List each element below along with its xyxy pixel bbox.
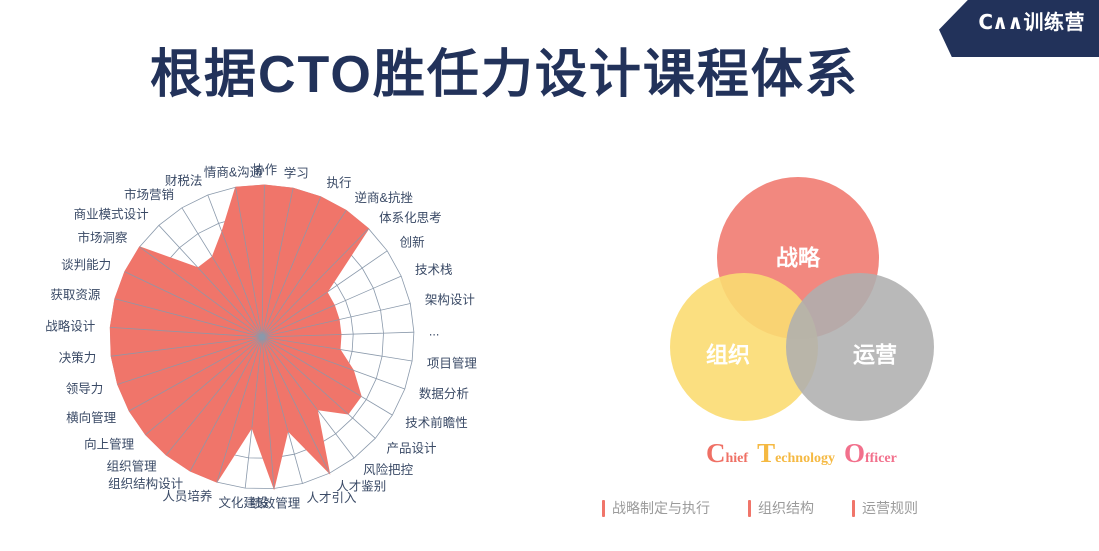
radar-axis-label: 技术前瞻性 (405, 415, 468, 430)
radar-svg: 情商&沟通协作学习执行逆商&抗挫体系化思考创新技术栈架构设计...项目管理数据分… (0, 122, 560, 547)
radar-axis-label: 创新 (400, 234, 425, 249)
legend-label: 运营规则 (862, 498, 918, 518)
acronym-word-officer: fficer (865, 451, 897, 466)
radar-axis-label: 向上管理 (84, 436, 135, 451)
venn-label-organization: 组织 (706, 343, 750, 368)
logo-label: 训练营 (1024, 12, 1086, 34)
radar-axis-label: 获取资源 (50, 288, 101, 302)
radar-axis-label: 横向管理 (66, 410, 117, 425)
radar-axis-label: 财税法 (165, 174, 203, 188)
radar-axis-label: 决策力 (59, 350, 97, 365)
radar-axis-label: 人才引入 (307, 491, 358, 505)
legend-label: 战略制定与执行 (612, 498, 710, 518)
radar-axis-label: 市场营销 (124, 187, 174, 202)
radar-series-area (110, 185, 368, 489)
cto-logo-mark: C∧∧ (978, 10, 1022, 34)
radar-axis-label: ... (429, 325, 439, 339)
legend-item-operations: 运营规则 (852, 498, 918, 518)
cto-venn-diagram: 战略 组织 运营 (620, 175, 960, 435)
legend-label: 组织结构 (758, 498, 814, 518)
page-title: 根据CTO胜任力设计课程体系 (150, 48, 859, 103)
radar-axis-label: 组织结构设计 (108, 476, 183, 491)
cto-acronym: ChiefTechnologyOfficer (706, 440, 897, 467)
radar-axis-label: 协作 (252, 162, 278, 177)
legend-bar-icon (748, 500, 751, 517)
radar-axis-label: 架构设计 (425, 292, 475, 307)
radar-axis-label: 数据分析 (419, 386, 469, 401)
radar-axis-label: 市场洞察 (77, 230, 128, 245)
acronym-letter-o: O (844, 438, 865, 468)
radar-axis-label: 产品设计 (387, 440, 437, 455)
legend-bar-icon (602, 500, 605, 517)
radar-axis-label: 体系化思考 (379, 211, 442, 225)
radar-axis-label: 战略设计 (45, 318, 95, 333)
venn-label-strategy: 战略 (776, 246, 821, 271)
legend-bar-icon (852, 500, 855, 517)
radar-axis-label: 组织管理 (107, 459, 158, 474)
venn-svg: 战略 组织 运营 (620, 175, 960, 435)
radar-axis-label: 执行 (327, 176, 352, 190)
radar-axis-label: 领导力 (66, 382, 104, 396)
radar-axis-label: 谈判能力 (61, 258, 111, 272)
radar-axis-label: 文化建设 (218, 495, 269, 510)
radar-axis-label: 风险把控 (363, 462, 414, 477)
venn-legend: 战略制定与执行 组织结构 运营规则 (602, 498, 956, 518)
radar-axis-label: 逆商&抗挫 (355, 190, 414, 205)
radar-axis-label: 商业模式设计 (74, 206, 149, 221)
logo-text: C∧∧训练营 (978, 12, 1085, 33)
acronym-letter-t: T (757, 438, 775, 468)
radar-axis-label: 项目管理 (427, 355, 478, 370)
brand-logo: C∧∧训练营 (939, 0, 1099, 57)
competency-radar-chart: 情商&沟通协作学习执行逆商&抗挫体系化思考创新技术栈架构设计...项目管理数据分… (0, 122, 560, 547)
legend-item-strategy: 战略制定与执行 (602, 498, 710, 518)
legend-item-organization: 组织结构 (748, 498, 814, 518)
acronym-word-chief: hief (726, 451, 749, 466)
radar-axis-label: 学习 (284, 166, 309, 181)
radar-center-point (259, 334, 265, 340)
acronym-word-technology: echnology (775, 451, 835, 466)
acronym-letter-c: C (706, 438, 726, 468)
venn-label-operations: 运营 (853, 343, 897, 368)
radar-axis-label: 技术栈 (415, 262, 453, 277)
